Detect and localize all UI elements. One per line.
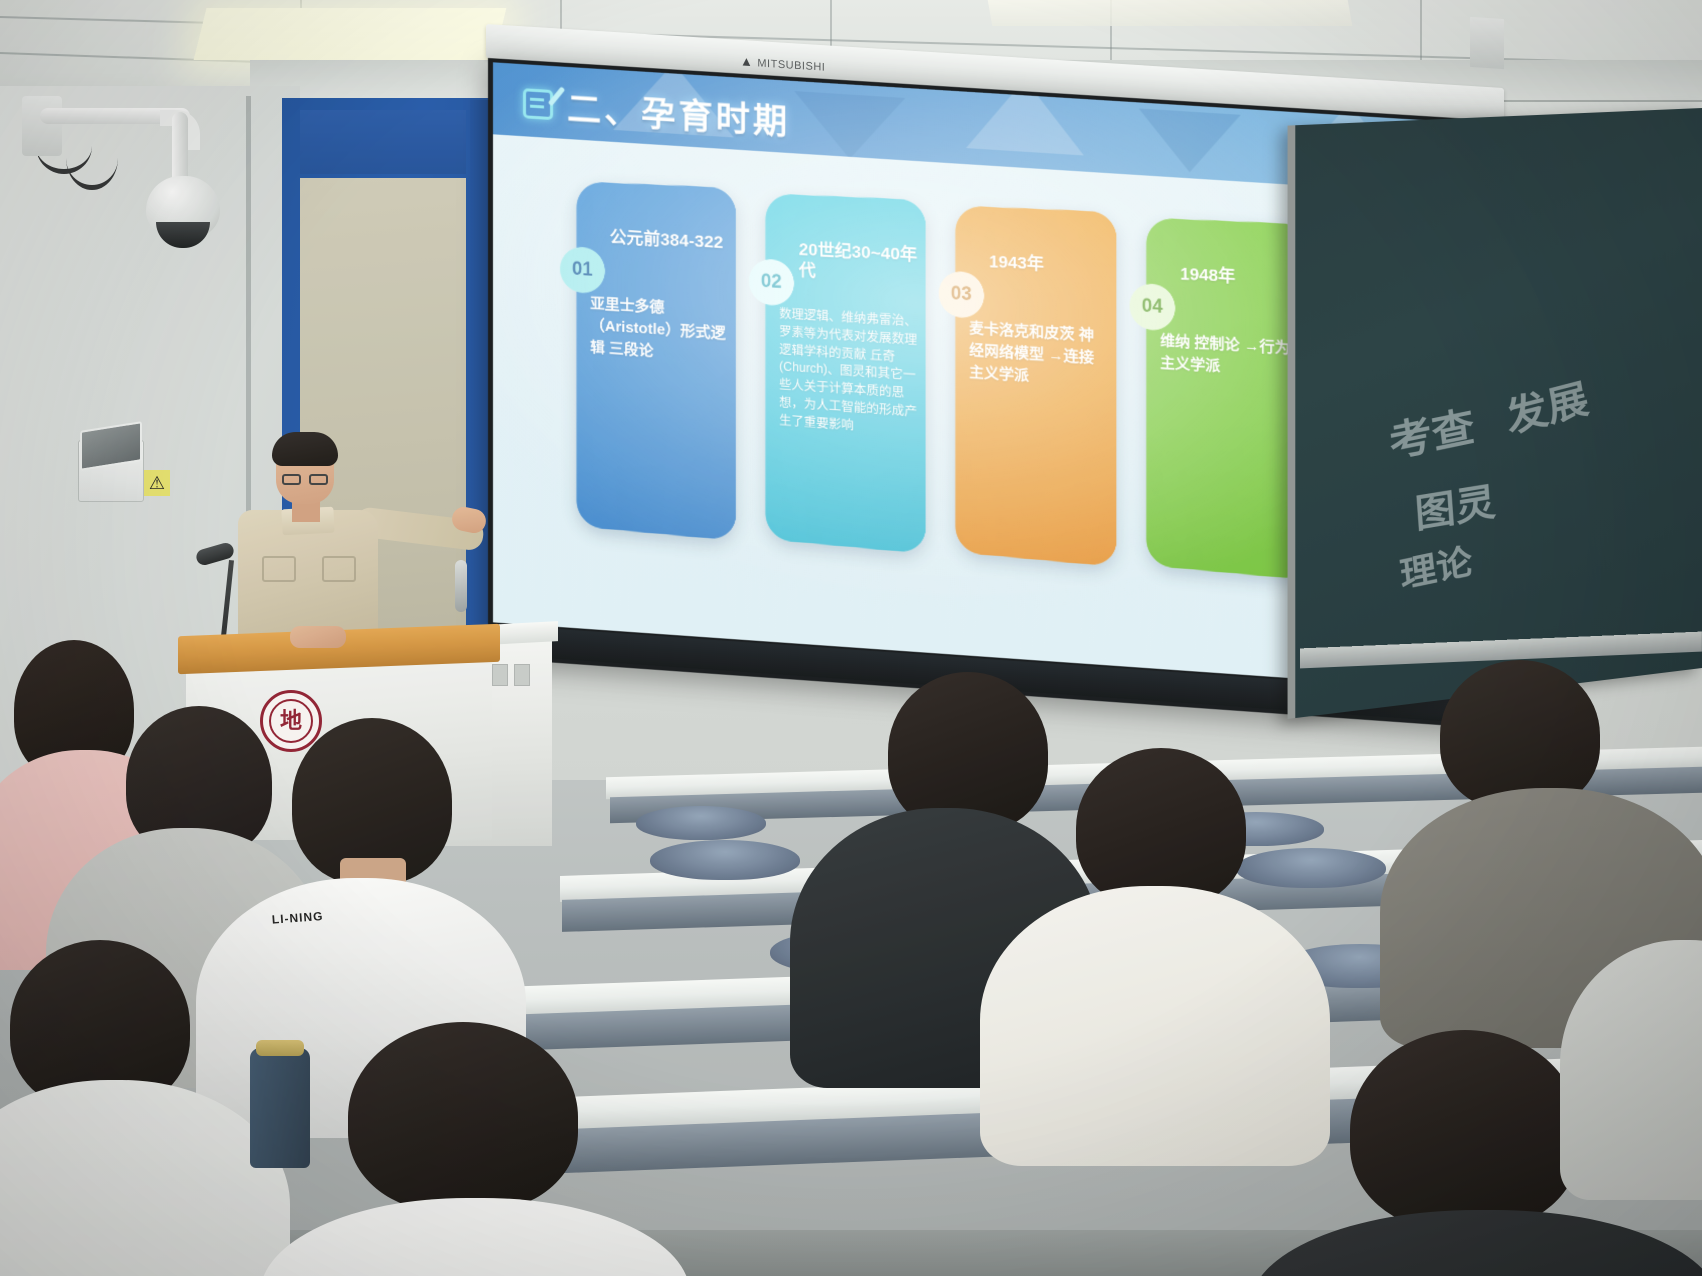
timeline-card-04: 04 1948年 维纳 控制论 →行为主义学派 <box>1146 218 1308 580</box>
card-number-badge: 01 <box>560 246 605 294</box>
lecturer-hand-on-lectern <box>290 626 346 648</box>
warning-triangle-icon: ⚠ <box>144 470 170 496</box>
shirt-pocket <box>322 556 356 582</box>
student <box>0 940 280 1276</box>
edit-note-icon <box>523 88 553 120</box>
card-year: 20世纪30~40年代 <box>799 239 918 288</box>
card-body: 数理逻辑、维纳弗雷治、罗素等为代表对发展数理逻辑学科的贡献 丘奇(Church)… <box>779 306 917 440</box>
student-torso <box>0 1080 290 1276</box>
seat <box>650 840 800 880</box>
student-hair <box>348 1022 578 1212</box>
card-number-badge: 02 <box>749 258 794 306</box>
timeline-card-01: 01 公元前384-322 亚里士多德（Aristotle）形式逻辑 三段论 <box>577 182 737 541</box>
card-year: 1948年 <box>1180 263 1300 290</box>
student-hair <box>1076 748 1246 908</box>
camera-mount-bracket <box>22 96 62 156</box>
door-transom <box>300 110 466 174</box>
student-torso <box>1560 940 1702 1200</box>
bottle-cap <box>256 1040 304 1056</box>
card-number-badge: 03 <box>939 271 984 319</box>
chalk-note: 考查 <box>1387 406 1477 464</box>
card-body: 维纳 控制论 →行为主义学派 <box>1160 330 1300 383</box>
student <box>300 1022 660 1276</box>
card-year: 1943年 <box>989 251 1108 278</box>
student-hair <box>1350 1030 1580 1230</box>
screen-mount-bracket <box>1470 17 1504 69</box>
camera-arm-vertical <box>172 112 188 184</box>
chalk-note: 图灵 <box>1414 483 1497 535</box>
door-handle[interactable] <box>455 560 467 612</box>
student <box>1010 748 1310 1088</box>
brand-mark-icon: ▲ <box>740 53 753 69</box>
timeline-card-03: 03 1943年 麦卡洛克和皮茨 神经网络模型 →连接主义学派 <box>955 206 1116 567</box>
ceiling-light-panel <box>194 8 507 60</box>
lecturer-hair <box>272 432 338 466</box>
blackboard: 考查 发展 图灵 理论 <box>1288 108 1702 719</box>
eyeglasses <box>282 474 328 485</box>
classroom-photo: ⚠ ▲MITSUBISHI 二、孕育时期 <box>0 0 1702 1276</box>
student <box>1560 900 1702 1180</box>
card-number-badge: 04 <box>1130 283 1176 331</box>
card-year: 公元前384-322 <box>610 227 728 254</box>
seat <box>636 806 766 840</box>
ceiling-light-panel-secondary <box>988 0 1353 26</box>
student-torso <box>260 1198 690 1276</box>
chalk-note: 理论 <box>1398 544 1474 594</box>
timeline-card-02: 02 20世纪30~40年代 数理逻辑、维纳弗雷治、罗素等为代表对发展数理逻辑学… <box>765 194 925 554</box>
card-body: 麦卡洛克和皮茨 神经网络模型 →连接主义学派 <box>969 318 1108 393</box>
student-hair <box>1440 660 1600 810</box>
card-body: 亚里士多德（Aristotle）形式逻辑 三段论 <box>590 293 728 367</box>
ceiling-cable <box>66 126 118 190</box>
chalk-note: 发展 <box>1503 379 1591 440</box>
warning-glyph: ⚠ <box>149 474 165 492</box>
student-torso <box>1250 1210 1702 1276</box>
shirt-pocket <box>262 556 296 582</box>
